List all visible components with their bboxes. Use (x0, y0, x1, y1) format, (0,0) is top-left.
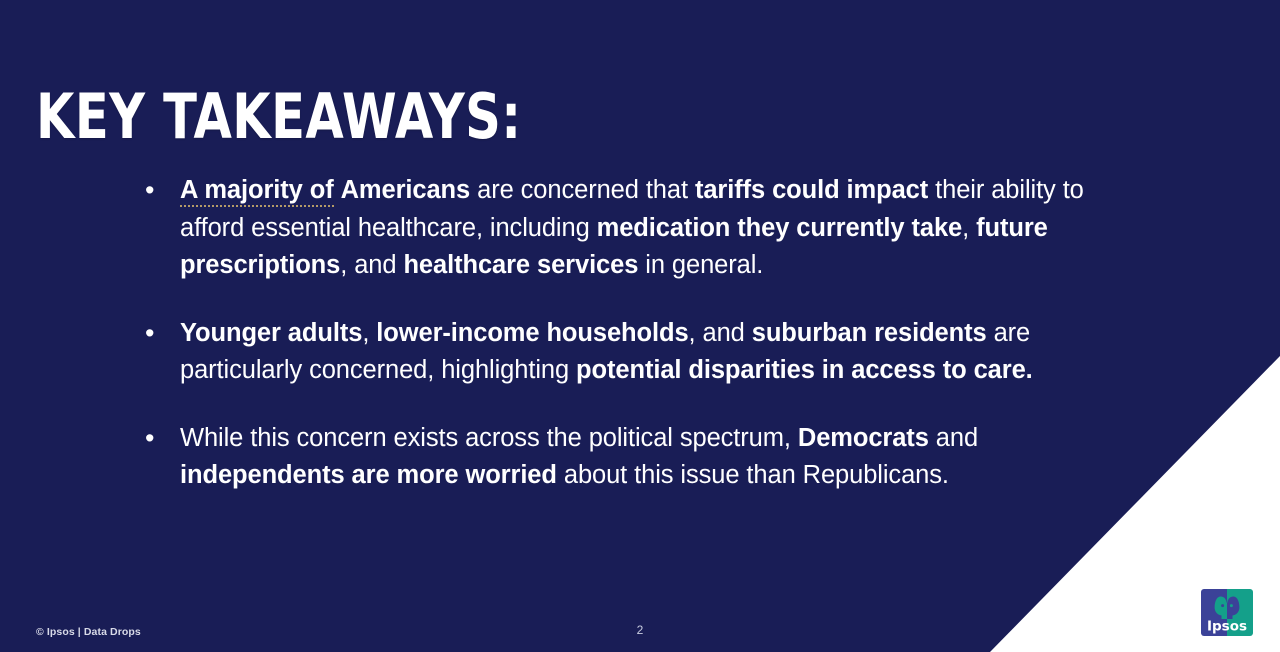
emphasis-text: Democrats (798, 424, 929, 452)
body-text: in general. (638, 251, 763, 279)
slide-canvas: KEY TAKEAWAYS: •A majority of Americans … (0, 0, 1280, 652)
bullet-item: •Younger adults, lower-income households… (138, 315, 1098, 390)
body-text: about this issue than Republicans. (557, 461, 949, 489)
ipsos-logo-svg: Ipsos (1201, 589, 1253, 636)
grammar-flagged-text: A majority of (180, 176, 334, 207)
body-text: , and (340, 251, 403, 279)
body-text: are concerned that (470, 176, 695, 204)
emphasis-text: suburban residents (752, 319, 987, 347)
body-text: While this concern exists across the pol… (180, 424, 798, 452)
bullet-dot-icon: • (138, 315, 180, 353)
emphasis-text: lower-income households (376, 319, 688, 347)
bullet-text: While this concern exists across the pol… (180, 420, 1098, 495)
emphasis-text: healthcare services (403, 251, 638, 279)
page-number: 2 (0, 623, 1280, 637)
bullet-text: Younger adults, lower-income households,… (180, 315, 1098, 390)
body-text (334, 176, 341, 204)
page-title: KEY TAKEAWAYS: (36, 86, 522, 148)
body-text: , (362, 319, 376, 347)
bullet-item: •A majority of Americans are concerned t… (138, 172, 1098, 285)
ipsos-logo: Ipsos (1201, 589, 1253, 636)
logo-wordmark: Ipsos (1207, 619, 1247, 635)
body-text: , and (689, 319, 752, 347)
emphasis-text: medication they currently take (597, 214, 962, 242)
body-text: , (962, 214, 976, 242)
bullet-text: A majority of Americans are concerned th… (180, 172, 1098, 285)
emphasis-text: potential disparities in access to care. (576, 356, 1033, 384)
bullet-item: •While this concern exists across the po… (138, 420, 1098, 495)
body-text: and (929, 424, 978, 452)
emphasis-text: independents are more worried (180, 461, 557, 489)
bullet-dot-icon: • (138, 420, 180, 458)
key-takeaways-list: •A majority of Americans are concerned t… (138, 172, 1098, 525)
emphasis-text: Younger adults (180, 319, 362, 347)
emphasis-text: Americans (341, 176, 471, 204)
bullet-dot-icon: • (138, 172, 180, 210)
emphasis-text: tariffs could impact (695, 176, 928, 204)
